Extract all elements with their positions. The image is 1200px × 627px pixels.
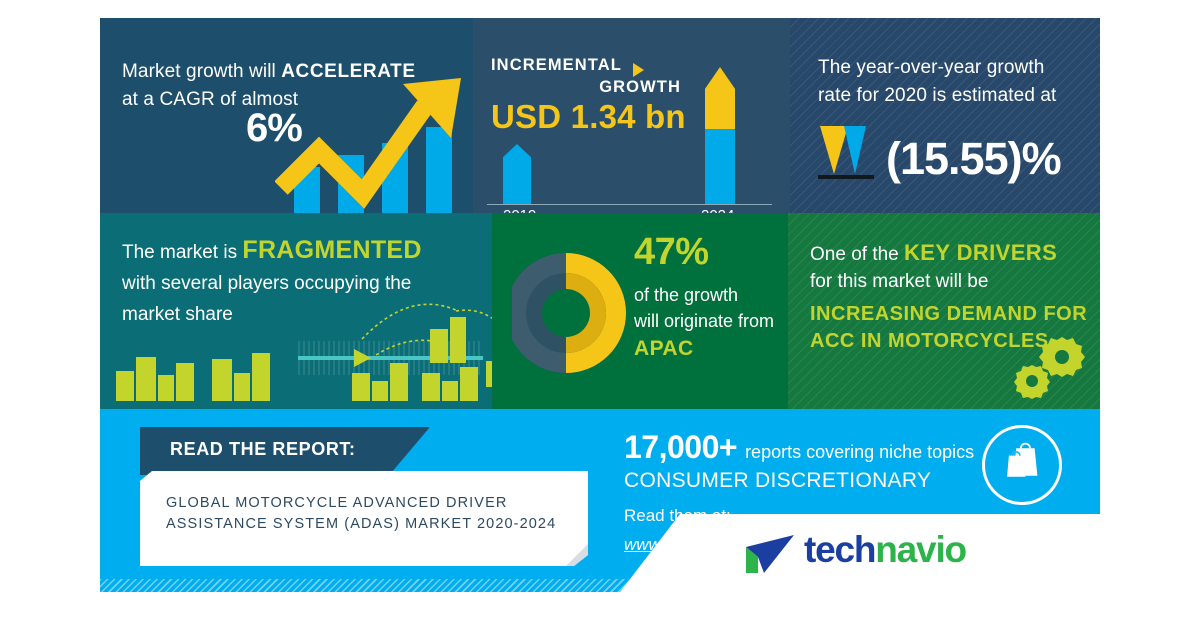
building xyxy=(352,373,370,401)
incremental-title-line2: GROWTH xyxy=(491,76,701,98)
apac-region: APAC xyxy=(634,337,694,361)
row-middle: The market is FRAGMENTED with several pl… xyxy=(100,213,1100,409)
down-arrow-blue xyxy=(844,126,866,174)
fragmented-prefix: The market is xyxy=(122,242,242,263)
building xyxy=(442,381,458,401)
technavio-logo: technavio xyxy=(740,527,1040,579)
cagr-headline-prefix: Market growth will xyxy=(122,61,281,82)
key-drivers-line2: for this market will be xyxy=(810,268,988,295)
building xyxy=(422,373,440,401)
reports-count-line: 17,000+reports covering niche topics xyxy=(624,429,974,466)
row-footer: READ THE REPORT: GLOBAL MOTORCYCLE ADVAN… xyxy=(100,409,1100,592)
read-them-at-label: Read them at: xyxy=(624,506,731,526)
infographic-board: Market growth will ACCELERATE at a CAGR … xyxy=(100,18,1100,592)
growth-arrow-icon xyxy=(275,66,473,213)
footer-hatch-strip xyxy=(100,579,1100,592)
yoy-headline-line2: rate for 2020 is estimated at xyxy=(818,85,1056,106)
technavio-wordmark: technavio xyxy=(804,529,966,571)
building xyxy=(136,357,156,401)
down-arrow-icon xyxy=(818,126,874,182)
incremental-axis xyxy=(487,204,787,205)
incremental-value: USD 1.34 bn xyxy=(491,98,686,136)
yoy-value: (15.55)% xyxy=(886,136,1061,182)
yoy-headline-line1: The year-over-year growth xyxy=(818,57,1044,78)
row-top: Market growth will ACCELERATE at a CAGR … xyxy=(100,18,1100,213)
panel-fragmented: The market is FRAGMENTED with several pl… xyxy=(100,213,512,409)
key-drivers-prefix: One of the xyxy=(810,244,904,265)
panel-apac: 47% of the growth will originate from AP… xyxy=(512,213,788,409)
yoy-headline: The year-over-year growth rate for 2020 … xyxy=(818,54,1078,110)
key-drivers-line1: One of the KEY DRIVERS xyxy=(810,239,1057,268)
key-drivers-line3: INCREASING DEMAND FOR xyxy=(810,301,1087,328)
city-cluster-right xyxy=(352,317,512,401)
apac-line2: will originate from xyxy=(634,311,774,332)
read-report-label: READ THE REPORT: xyxy=(170,439,356,460)
infographic-canvas: Market growth will ACCELERATE at a CAGR … xyxy=(0,0,1200,627)
reports-count-suffix: reports covering niche topics xyxy=(745,442,974,462)
incremental-title: INCREMENTAL GROWTH xyxy=(491,54,701,98)
report-category: CONSUMER DISCRETIONARY xyxy=(624,469,931,493)
building xyxy=(252,353,270,401)
fragmented-strong: FRAGMENTED xyxy=(242,236,421,264)
shopping-bags-icon xyxy=(985,428,1053,496)
panel-yoy-growth: The year-over-year growth rate for 2020 … xyxy=(790,18,1100,213)
yoy-value-wrap: (15.55)% xyxy=(818,126,1061,182)
brand-part-tech: tech xyxy=(804,529,875,570)
report-title: GLOBAL MOTORCYCLE ADVANCED DRIVER ASSIST… xyxy=(166,493,576,535)
connector-arcs xyxy=(352,291,512,375)
building xyxy=(158,375,174,401)
key-drivers-strong: KEY DRIVERS xyxy=(904,240,1057,265)
building xyxy=(116,371,134,401)
report-title-card[interactable]: GLOBAL MOTORCYCLE ADVANCED DRIVER ASSIST… xyxy=(140,471,588,566)
building xyxy=(234,373,250,401)
page-fold-corner xyxy=(566,544,588,566)
read-report-ribbon: READ THE REPORT: xyxy=(140,427,430,475)
incremental-title-line1: INCREMENTAL xyxy=(491,56,622,74)
building xyxy=(372,381,388,401)
incremental-bar-2024 xyxy=(705,67,735,204)
shopping-bags-badge xyxy=(982,425,1062,505)
brand-part-navio: navio xyxy=(875,529,966,570)
apac-line1: of the growth xyxy=(634,285,738,306)
panel-key-drivers: One of the KEY DRIVERS for this market w… xyxy=(788,213,1100,409)
city-cluster-left xyxy=(116,347,286,401)
down-arrow-baseline xyxy=(818,175,874,179)
gears-icon xyxy=(1006,333,1086,399)
apac-donut-chart xyxy=(512,251,628,375)
panel-incremental-growth: INCREMENTAL GROWTH USD 1.34 bn 2019 2024 xyxy=(473,18,800,213)
reports-count: 17,000+ xyxy=(624,429,737,465)
apac-value: 47% xyxy=(634,231,709,274)
panel-cagr: Market growth will ACCELERATE at a CAGR … xyxy=(100,18,473,213)
building xyxy=(212,359,232,401)
building xyxy=(176,363,194,401)
incremental-bar-2019 xyxy=(503,144,531,204)
play-triangle-icon xyxy=(633,63,644,77)
technavio-mark-icon xyxy=(744,531,800,579)
fragmented-line3: market share xyxy=(122,304,233,325)
